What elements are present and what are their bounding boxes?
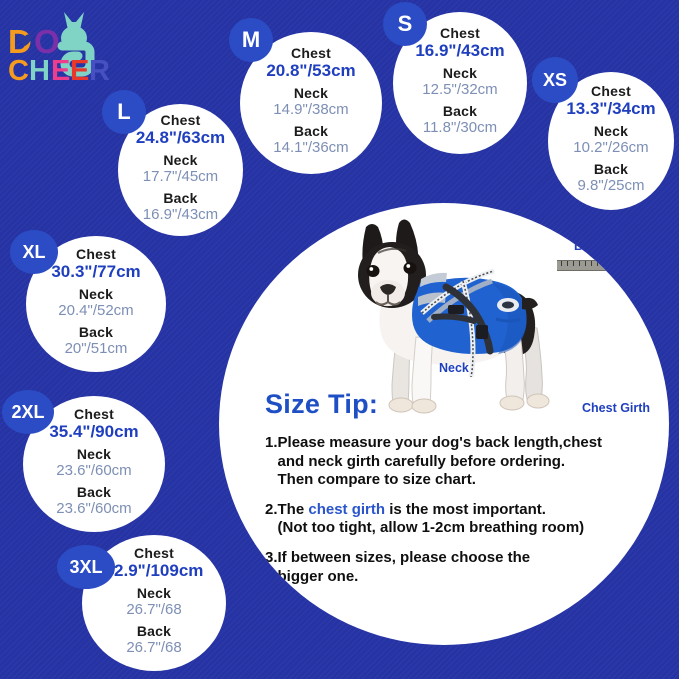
size-badge-l: L xyxy=(102,90,146,134)
tip-text: If between sizes, please choose the bigg… xyxy=(278,549,645,586)
size-badge-xl: XL xyxy=(10,230,58,274)
chest-value: 20.8"/53cm xyxy=(266,62,355,79)
size-tip-block: Size Tip: 1. Please measure your dog's b… xyxy=(265,389,645,597)
back-label: Back xyxy=(294,124,328,138)
size-tip-item-2: 2. The chest girth is the most important… xyxy=(265,501,645,538)
main-content-circle: Back Neck Chest Girth Size Tip: 1. Pleas… xyxy=(219,203,669,645)
neck-label: Neck xyxy=(594,124,628,138)
back-label: Back xyxy=(163,191,197,205)
back-label: Back xyxy=(443,104,477,118)
back-label: Back xyxy=(137,624,171,638)
tip-text: Please measure your dog's back length,ch… xyxy=(278,434,645,490)
neck-value: 17.7"/45cm xyxy=(143,169,218,184)
chest-label: Chest xyxy=(134,546,174,560)
tip-line-2: and neck girth carefully before ordering… xyxy=(278,453,566,470)
tip-line-2: bigger one. xyxy=(278,568,359,585)
back-label: Back xyxy=(77,485,111,499)
diagram-label-neck: Neck xyxy=(439,361,469,375)
size-tip-item-1: 1. Please measure your dog's back length… xyxy=(265,434,645,490)
size-badge-3xl: 3XL xyxy=(57,545,115,589)
dog-illustration: Back Neck Chest Girth xyxy=(324,213,624,418)
chest-value: 30.3"/77cm xyxy=(51,263,140,280)
chest-value: 35.4"/90cm xyxy=(49,423,138,440)
neck-value: 10.2"/26cm xyxy=(573,140,648,155)
chest-label: Chest xyxy=(591,84,631,98)
svg-text:C: C xyxy=(8,55,29,87)
chest-value: 42.9"/109cm xyxy=(105,562,204,579)
dog-cheer-logo-icon: D O C H E E R xyxy=(6,8,136,88)
svg-text:E: E xyxy=(51,55,70,87)
back-value: 14.1"/36cm xyxy=(273,140,348,155)
tip-number: 2. xyxy=(265,501,278,538)
back-value: 26.7"/68 xyxy=(126,640,181,655)
neck-value: 12.5"/32cm xyxy=(422,82,497,97)
neck-value: 23.6"/60cm xyxy=(56,463,131,478)
chest-value: 24.8"/63cm xyxy=(136,129,225,146)
back-value: 11.8"/30cm xyxy=(423,120,497,135)
neck-label: Neck xyxy=(77,447,111,461)
tip-number: 1. xyxy=(265,434,278,490)
tip-line-3: Then compare to size chart. xyxy=(278,471,476,488)
tip-number: 3. xyxy=(265,549,278,586)
chest-value: 13.3"/34cm xyxy=(566,100,655,117)
tip-pre-text: The xyxy=(278,501,309,518)
size-tip-title: Size Tip: xyxy=(265,389,645,420)
neck-label: Neck xyxy=(163,153,197,167)
back-value: 16.9"/43cm xyxy=(143,207,218,222)
tip-text: The chest girth is the most important. (… xyxy=(278,501,645,538)
neck-label: Neck xyxy=(137,586,171,600)
neck-value: 20.4"/52cm xyxy=(58,303,133,318)
tip-line-1: Please measure your dog's back length,ch… xyxy=(278,434,603,451)
neck-label: Neck xyxy=(443,66,477,80)
size-badge-xs: XS xyxy=(532,57,578,103)
brand-logo: D O C H E E R xyxy=(6,8,136,88)
chest-label: Chest xyxy=(76,247,116,261)
chest-label: Chest xyxy=(291,46,331,60)
back-label: Back xyxy=(594,162,628,176)
back-value: 9.8"/25cm xyxy=(577,178,644,193)
size-badge-s: S xyxy=(383,2,427,46)
svg-text:R: R xyxy=(89,55,110,87)
tip-highlight-chest-girth: chest girth xyxy=(308,501,385,518)
back-value: 20"/51cm xyxy=(65,341,128,356)
size-badge-m: M xyxy=(229,18,273,62)
svg-text:E: E xyxy=(70,55,89,87)
svg-text:H: H xyxy=(29,55,50,87)
chest-value: 16.9"/43cm xyxy=(415,42,504,59)
size-badge-2xl: 2XL xyxy=(2,390,54,434)
size-chart-canvas: D O C H E E R L Chest 24.8"/63cm Neck 17… xyxy=(0,0,679,679)
neck-value: 14.9"/38cm xyxy=(273,102,348,117)
neck-value: 26.7"/68 xyxy=(126,602,181,617)
neck-label: Neck xyxy=(294,86,328,100)
chest-label: Chest xyxy=(440,26,480,40)
chest-label: Chest xyxy=(161,113,201,127)
chest-label: Chest xyxy=(74,407,114,421)
size-tip-item-3: 3. If between sizes, please choose the b… xyxy=(265,549,645,586)
tape-measure-icon xyxy=(557,260,653,271)
tip-post-text: is the most important. xyxy=(385,501,546,518)
back-value: 23.6"/60cm xyxy=(56,501,131,516)
tip-line-2: (Not too tight, allow 1-2cm breathing ro… xyxy=(278,519,585,536)
diagram-label-back: Back xyxy=(574,239,604,253)
tip-line-1: If between sizes, please choose the xyxy=(278,549,531,566)
back-label: Back xyxy=(79,325,113,339)
neck-label: Neck xyxy=(79,287,113,301)
